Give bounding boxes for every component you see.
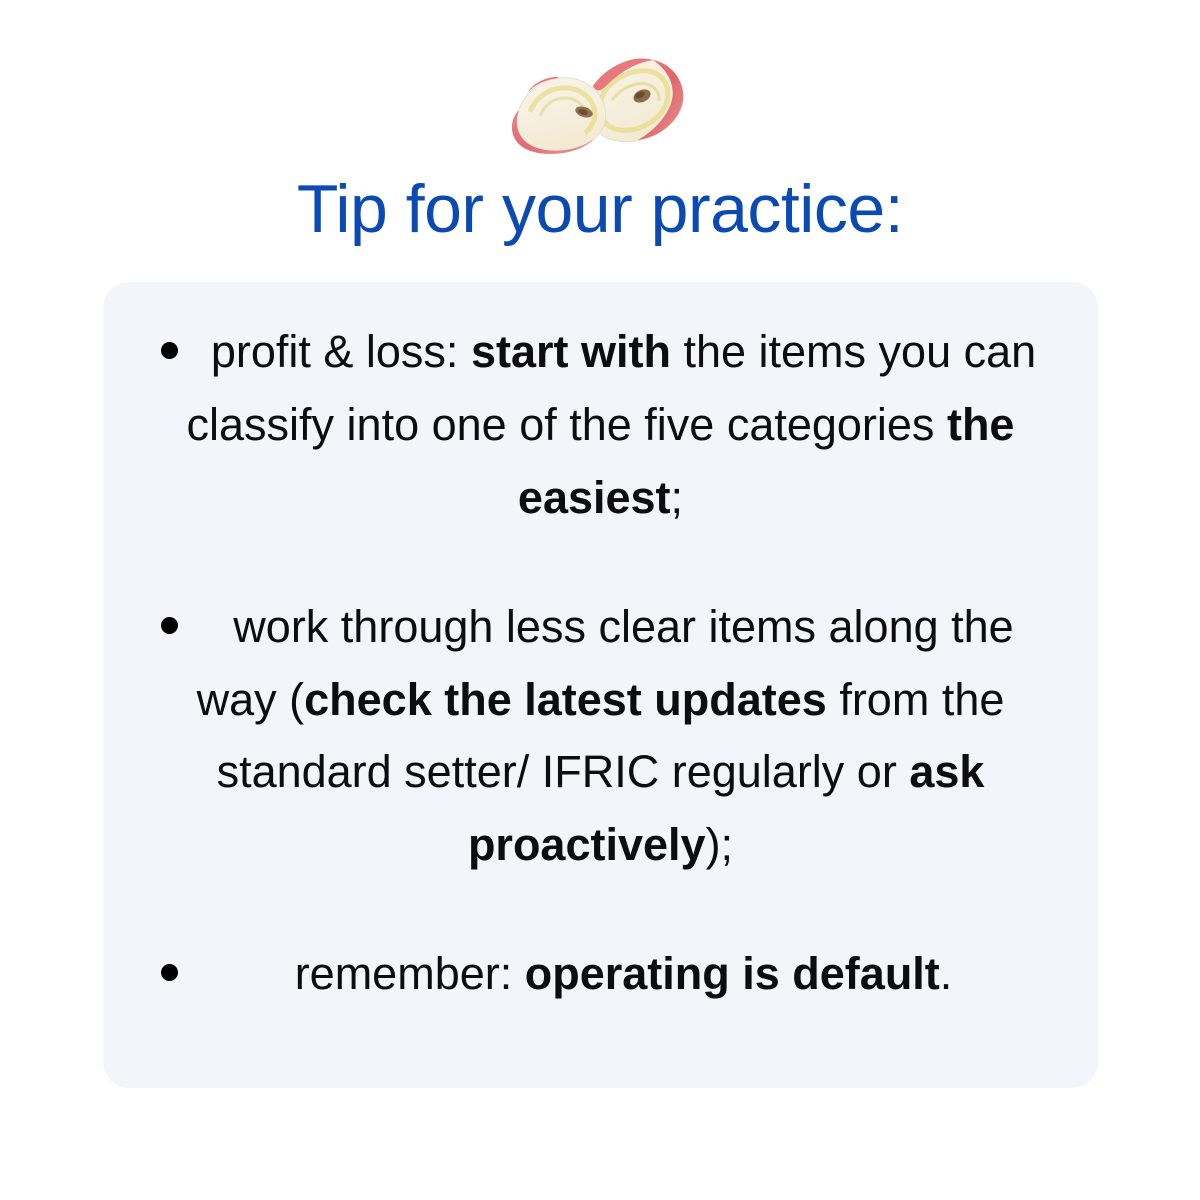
text-segment: ); (706, 819, 734, 870)
bullet-dot-icon (161, 617, 178, 634)
list-item-text: profit & loss: start with the items you … (131, 316, 1070, 535)
tip-bullet-list: profit & loss: start with the items you … (131, 316, 1070, 1011)
list-item: profit & loss: start with the items you … (131, 316, 1070, 535)
slide-root: Tip for your practice: profit & loss: st… (0, 0, 1200, 1200)
text-segment-bold: operating is default (525, 948, 940, 999)
text-segment-bold: start with (471, 326, 671, 377)
apple-slice-lower (512, 77, 606, 154)
tip-card: profit & loss: start with the items you … (103, 282, 1098, 1088)
text-segment: . (940, 948, 953, 999)
apple-slice-upper (589, 59, 683, 142)
list-item-text: remember: operating is default. (131, 938, 1070, 1011)
text-segment-bold: check the latest updates (304, 674, 827, 725)
apple-slices-illustration (485, 48, 715, 168)
page-title: Tip for your practice: (297, 174, 903, 245)
text-segment: ; (671, 472, 684, 523)
text-segment: profit & loss: (211, 326, 471, 377)
list-item: remember: operating is default. (131, 938, 1070, 1011)
list-item-text: work through less clear items along the … (131, 591, 1070, 883)
bullet-dot-icon (161, 342, 178, 359)
text-segment: remember: (295, 948, 525, 999)
list-item: work through less clear items along the … (131, 591, 1070, 883)
